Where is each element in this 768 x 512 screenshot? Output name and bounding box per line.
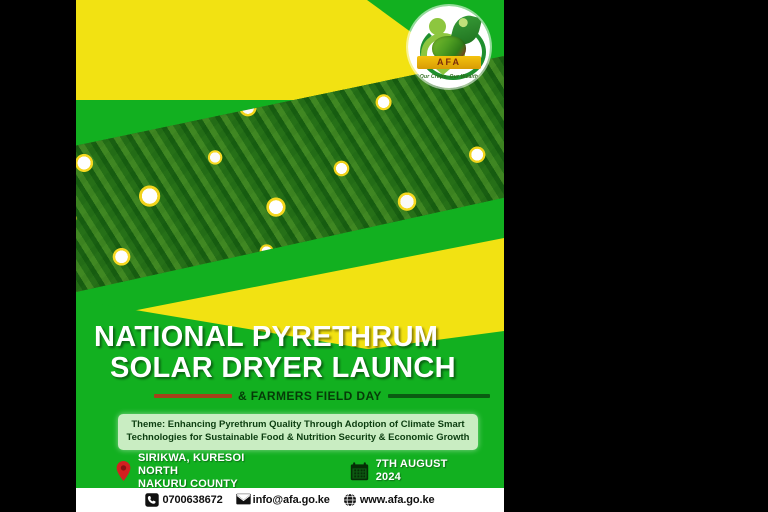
screenshot-canvas: AFA Our Crops, Our Wealth NATIONAL PYRET… xyxy=(0,0,768,512)
theme-box: Theme: Enhancing Pyrethrum Quality Throu… xyxy=(118,414,478,450)
envelope-icon xyxy=(236,493,250,507)
venue-date-row: SIRIKWA, KURESOI NORTH NAKURU COUNTY xyxy=(116,452,476,491)
subtitle-text: & FARMERS FIELD DAY xyxy=(238,389,382,403)
email-address: info@afa.go.ke xyxy=(253,494,330,506)
theme-line-2: Technologies for Sustainable Food & Nutr… xyxy=(126,432,470,445)
location-pin-icon xyxy=(116,461,131,481)
theme-line-1: Theme: Enhancing Pyrethrum Quality Throu… xyxy=(126,419,470,432)
subtitle-rule-right xyxy=(388,394,490,398)
subtitle-row: & FARMERS FIELD DAY xyxy=(94,389,490,403)
date-item: 7TH AUGUST 2024 xyxy=(350,458,476,484)
email-item[interactable]: info@afa.go.ke xyxy=(236,493,330,507)
phone-number: 0700638672 xyxy=(162,494,222,506)
calendar-icon xyxy=(350,462,369,481)
logo-person-head-icon xyxy=(429,18,446,35)
title-line-2: SOLAR DRYER LAUNCH xyxy=(94,353,490,384)
venue-item: SIRIKWA, KURESOI NORTH NAKURU COUNTY xyxy=(116,452,288,491)
globe-icon xyxy=(343,493,357,507)
subtitle-rule-left xyxy=(154,394,232,398)
title-block: NATIONAL PYRETHRUM SOLAR DRYER LAUNCH & … xyxy=(94,322,490,403)
phone-icon xyxy=(145,493,159,507)
website-item[interactable]: www.afa.go.ke xyxy=(343,493,435,507)
contact-footer-bar: 0700638672 info@afa.go.ke xyxy=(76,488,504,512)
event-poster: AFA Our Crops, Our Wealth NATIONAL PYRET… xyxy=(76,0,504,512)
logo-ribbon: AFA xyxy=(417,56,481,69)
date-text: 7TH AUGUST 2024 xyxy=(376,458,476,484)
venue-line-1: SIRIKWA, KURESOI NORTH xyxy=(138,452,288,478)
title-line-1: NATIONAL PYRETHRUM xyxy=(94,322,490,353)
logo-tagline: Our Crops, Our Wealth xyxy=(408,74,490,80)
venue-text: SIRIKWA, KURESOI NORTH NAKURU COUNTY xyxy=(138,452,288,491)
afa-logo: AFA Our Crops, Our Wealth xyxy=(408,6,490,88)
phone-item[interactable]: 0700638672 xyxy=(145,493,222,507)
logo-acronym: AFA xyxy=(417,56,481,69)
website-url: www.afa.go.ke xyxy=(360,494,435,506)
